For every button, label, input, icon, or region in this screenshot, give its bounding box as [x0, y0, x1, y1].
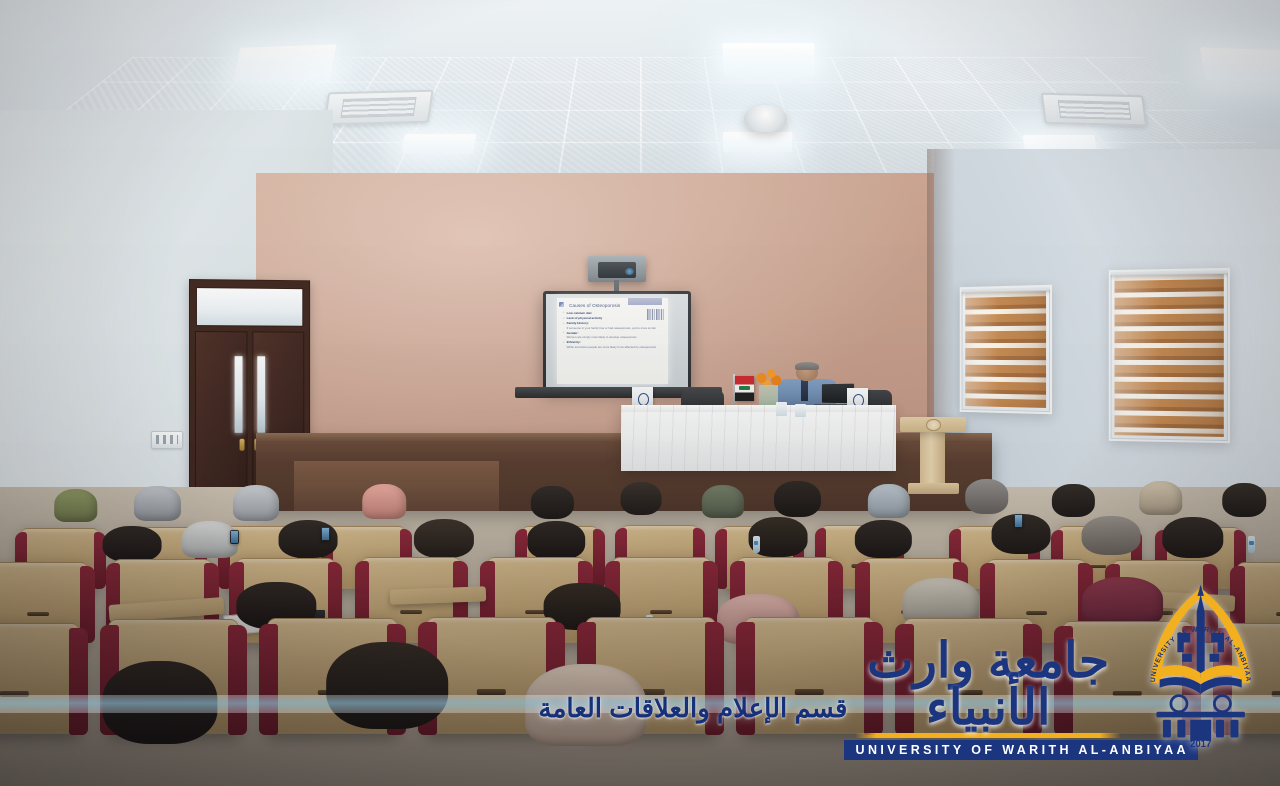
university-name-arabic: جامعة وارث الأنبياء [844, 638, 1133, 732]
water-glass [795, 404, 806, 417]
attendee [855, 520, 911, 558]
head-table [621, 405, 896, 471]
attendee [1082, 516, 1141, 556]
whiteboard-surface: Causes of Osteoporosis Low calcium diet … [546, 294, 688, 387]
attendee-head [326, 642, 448, 730]
lecture-hall-photograph: Causes of Osteoporosis Low calcium diet … [0, 0, 1280, 786]
attendee-foreground [102, 661, 217, 743]
window-left [960, 285, 1052, 415]
slide-bullet: Lack of physical activity [563, 316, 663, 321]
air-conditioner-cassette [324, 90, 434, 126]
attendee [1162, 517, 1223, 558]
interactive-whiteboard[interactable]: Causes of Osteoporosis Low calcium diet … [543, 291, 691, 390]
table-top-edge [621, 405, 896, 412]
water-bottle [1248, 536, 1255, 553]
water-glass [776, 402, 787, 415]
attendee-head [1082, 516, 1141, 556]
slide-bullet: Low calcium diet [563, 311, 663, 316]
ceiling-light-panel [402, 134, 477, 154]
speaker-hair [795, 362, 819, 370]
projector-body [598, 262, 636, 278]
university-logo-lockup: جامعة وارث الأنبياء UNIVERSITY OF WARITH… [844, 638, 1133, 760]
slide-bullet: Family History: If someone in your famil… [563, 321, 663, 330]
slide-bullet: Gender: Women are simply more likely to … [563, 331, 663, 340]
ceiling-light-panel [1200, 47, 1280, 83]
projector [588, 256, 647, 282]
podium-emblem [926, 419, 941, 432]
attendee-head [855, 520, 911, 558]
door-transom-window [196, 287, 303, 327]
slide-bullet-icon [559, 302, 564, 307]
speaker-necktie [801, 380, 808, 400]
roller-blind[interactable] [966, 291, 1047, 408]
slide-bullet: Ethnicity: White and Asian people are mo… [563, 340, 663, 349]
projector-lens [625, 268, 633, 274]
ceiling-light-panel [723, 43, 816, 76]
attendee [413, 519, 473, 559]
slide-overlay-tab [628, 298, 661, 305]
attendee-head [1162, 517, 1223, 558]
roller-blind[interactable] [1115, 274, 1224, 437]
attendee-head [413, 519, 473, 559]
presentation-slide: Causes of Osteoporosis Low calcium diet … [557, 298, 668, 384]
ceiling-speaker-dome [744, 105, 788, 132]
door-handle[interactable] [240, 438, 245, 450]
light-switch-plate[interactable] [151, 431, 183, 449]
door-glass-pane [258, 356, 266, 432]
smartphone[interactable] [1014, 514, 1023, 528]
attendee-foreground [326, 642, 448, 730]
attendee-head [102, 661, 217, 743]
svg-text:2017: 2017 [1190, 739, 1211, 750]
smartphone[interactable] [230, 530, 239, 544]
air-conditioner-cassette [1041, 93, 1148, 127]
door-glass-pane [235, 356, 243, 433]
slide-bullet-list: Low calcium diet Lack of physical activi… [563, 311, 663, 349]
ceiling-light-panel [233, 44, 336, 82]
department-watermark-text: قسم الإعلام والعلاقات العامة [539, 693, 848, 724]
podium-lectern-top [900, 417, 967, 432]
smartphone[interactable] [321, 527, 330, 541]
window-right [1109, 268, 1230, 443]
ceiling-light-panel [723, 132, 792, 152]
university-crest-icon: UNIVERSITY OF WARITH AL-ANBIYAA [1129, 583, 1272, 752]
water-bottle [753, 536, 760, 553]
